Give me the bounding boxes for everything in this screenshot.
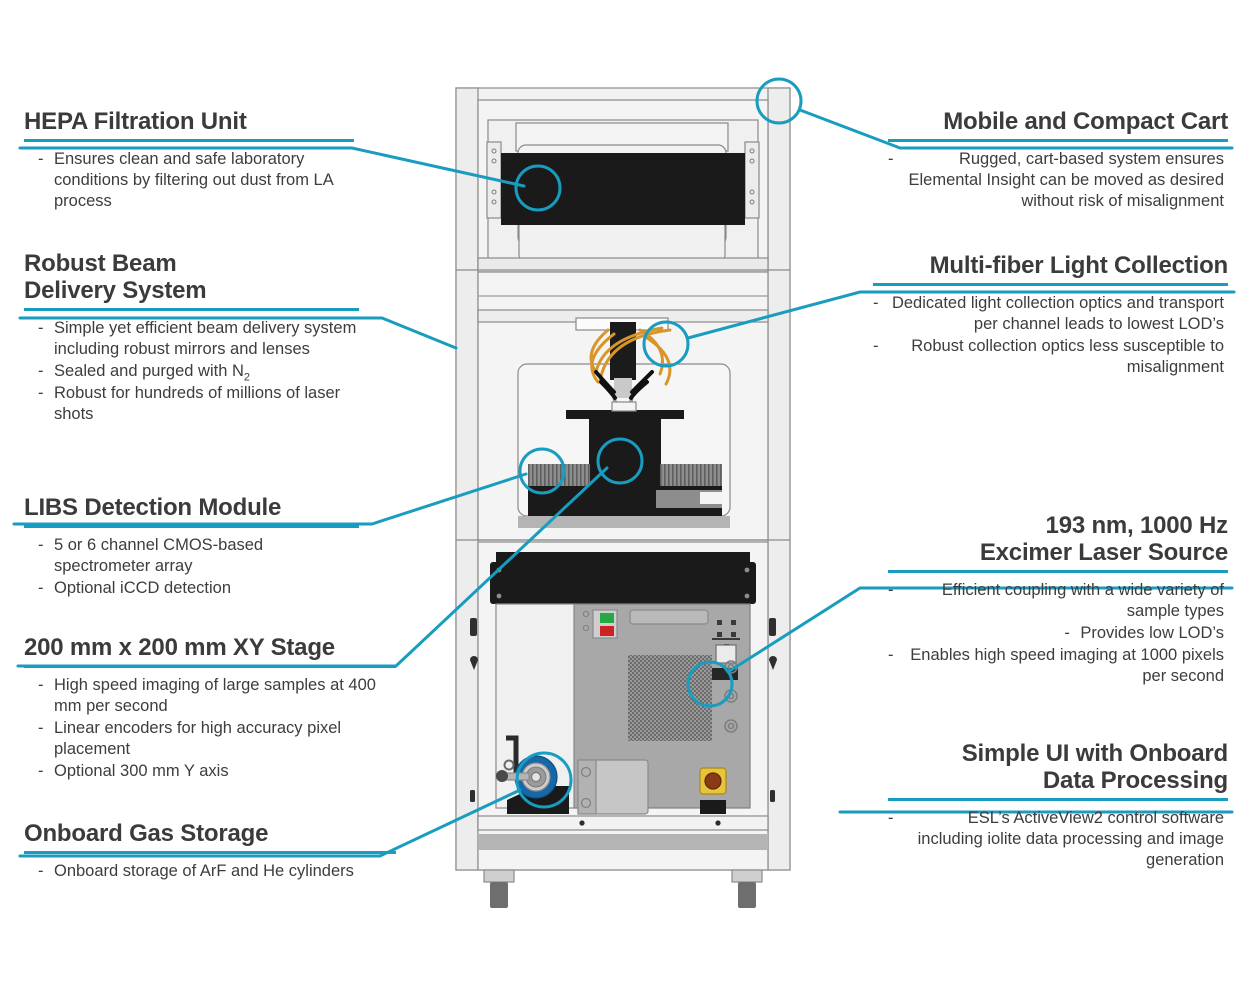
bullet-item: - ESL’s ActiveView2 control software inc… xyxy=(888,808,1228,871)
bullet-item: - Linear encoders for high accuracy pixe… xyxy=(24,718,396,760)
bullet-dash: - xyxy=(38,361,54,382)
mobile-cart-hotspot xyxy=(757,79,801,123)
bullet-dash: - xyxy=(38,675,54,717)
accent-rule xyxy=(24,665,396,668)
bullet-item: - Sealed and purged with N2 xyxy=(24,361,359,382)
bullet-dash: - xyxy=(38,535,54,577)
bullet-text: Onboard storage of ArF and He cylinders xyxy=(54,861,396,882)
bullet-text: Efficient coupling with a wide variety o… xyxy=(904,580,1224,622)
bullet-item: - Optional 300 mm Y axis xyxy=(24,761,396,782)
bullet-text: Enables high speed imaging at 1000 pixel… xyxy=(904,645,1224,687)
bullet-item: - Rugged, cart-based system ensures Elem… xyxy=(888,149,1228,212)
bullet-text: Sealed and purged with N2 xyxy=(54,361,359,382)
bullet-item: - Provides low LOD’s xyxy=(888,623,1228,644)
callout-title: Simple UI with Onboard Data Processing xyxy=(888,740,1228,794)
callout-multi-fiber-light-collection: Multi-fiber Light Collection - Dedicated… xyxy=(873,252,1228,379)
gas-regulator xyxy=(496,756,557,798)
bullet-item: - Optional iCCD detection xyxy=(24,578,359,599)
xy-stage-hotspot xyxy=(598,439,642,483)
callout-mobile-and-compact-cart: Mobile and Compact Cart - Rugged, cart-b… xyxy=(888,108,1228,213)
hepa-filter-hotspot xyxy=(516,166,560,210)
bullet-dash: - xyxy=(888,808,904,871)
bullet-text: Provides low LOD’s xyxy=(1080,623,1224,644)
bullet-item: - 5 or 6 channel CMOS-based spectrometer… xyxy=(24,535,359,577)
callout-bullets: - 5 or 6 channel CMOS-based spectrometer… xyxy=(24,535,359,599)
bullet-item: - Simple yet efficient beam delivery sys… xyxy=(24,318,359,360)
bullet-dash: - xyxy=(38,149,54,212)
bullet-dash: - xyxy=(888,149,904,212)
callout-title: HEPA Filtration Unit xyxy=(24,108,354,135)
callout-bullets: - Efficient coupling with a wide variety… xyxy=(888,580,1228,687)
accent-rule xyxy=(873,283,1228,286)
callout-onboard-gas-storage: Onboard Gas Storage - Onboard storage of… xyxy=(24,820,396,883)
bullet-text: Robust collection optics less susceptibl… xyxy=(889,336,1224,378)
bullet-item: - Robust collection optics less suscepti… xyxy=(873,336,1228,378)
laser-source-hotspot xyxy=(688,662,732,706)
bullet-dash: - xyxy=(873,293,889,335)
bullet-dash: - xyxy=(1064,623,1080,644)
bullet-text: Rugged, cart-based system ensures Elemen… xyxy=(904,149,1224,212)
callout-bullets: - Dedicated light collection optics and … xyxy=(873,293,1228,378)
callout-title: Multi-fiber Light Collection xyxy=(873,252,1228,279)
callout-bullets: - ESL’s ActiveView2 control software inc… xyxy=(888,808,1228,871)
callout-title: Robust Beam Delivery System xyxy=(24,250,359,304)
bullet-text: High speed imaging of large samples at 4… xyxy=(54,675,396,717)
callout-title: 200 mm x 200 mm XY Stage xyxy=(24,634,396,661)
callout-hepa-filtration-unit: HEPA Filtration Unit - Ensures clean and… xyxy=(24,108,354,213)
accent-rule xyxy=(888,139,1228,142)
bullet-text: 5 or 6 channel CMOS-based spectrometer a… xyxy=(54,535,359,577)
callout-bullets: - Rugged, cart-based system ensures Elem… xyxy=(888,149,1228,212)
callout-xy-stage: 200 mm x 200 mm XY Stage - High speed im… xyxy=(24,634,396,783)
callout-bullets: - Simple yet efficient beam delivery sys… xyxy=(24,318,359,425)
callout-title: LIBS Detection Module xyxy=(24,494,359,521)
subscript-2: 2 xyxy=(244,371,250,383)
accent-rule xyxy=(888,570,1228,573)
bullet-dash: - xyxy=(38,761,54,782)
callout-robust-beam-delivery-system: Robust Beam Delivery System - Simple yet… xyxy=(24,250,359,426)
bullet-text: ESL’s ActiveView2 control software inclu… xyxy=(904,808,1224,871)
callout-simple-ui-data-processing: Simple UI with Onboard Data Processing -… xyxy=(888,740,1228,872)
bullet-dash: - xyxy=(888,645,904,687)
bullet-text: Optional 300 mm Y axis xyxy=(54,761,396,782)
bullet-item: - Efficient coupling with a wide variety… xyxy=(888,580,1228,622)
infographic-canvas: HEPA Filtration Unit - Ensures clean and… xyxy=(0,0,1250,1000)
gas-storage-hotspot xyxy=(517,753,571,807)
bullet-dash: - xyxy=(38,318,54,360)
accent-rule xyxy=(24,139,354,142)
libs-detection-hotspot xyxy=(520,449,564,493)
bullet-text: Dedicated light collection optics and tr… xyxy=(889,293,1224,335)
bullet-dash: - xyxy=(38,718,54,760)
bullet-text: Optional iCCD detection xyxy=(54,578,359,599)
bullet-item: - Enables high speed imaging at 1000 pix… xyxy=(888,645,1228,687)
callout-bullets: - Ensures clean and safe laboratory cond… xyxy=(24,149,354,212)
light-collection-hotspot xyxy=(644,322,688,366)
bullet-item: - Dedicated light collection optics and … xyxy=(873,293,1228,335)
bullet-text: Simple yet efficient beam delivery syste… xyxy=(54,318,359,360)
bullet-dash: - xyxy=(38,578,54,599)
accent-rule xyxy=(24,525,359,528)
bullet-dash: - xyxy=(38,861,54,882)
accent-rule xyxy=(24,308,359,311)
bullet-dash: - xyxy=(873,336,889,378)
callout-title: 193 nm, 1000 Hz Excimer Laser Source xyxy=(888,512,1228,566)
bullet-text: Ensures clean and safe laboratory condit… xyxy=(54,149,354,212)
bullet-item: - Ensures clean and safe laboratory cond… xyxy=(24,149,354,212)
accent-rule xyxy=(24,851,396,854)
cart-body xyxy=(456,88,790,908)
bullet-dash: - xyxy=(38,383,54,425)
accent-rule xyxy=(888,798,1228,801)
callout-libs-detection-module: LIBS Detection Module - 5 or 6 channel C… xyxy=(24,494,359,600)
callout-title: Mobile and Compact Cart xyxy=(888,108,1228,135)
callout-title: Onboard Gas Storage xyxy=(24,820,396,847)
callout-bullets: - High speed imaging of large samples at… xyxy=(24,675,396,782)
bullet-item: - High speed imaging of large samples at… xyxy=(24,675,396,717)
bullet-text: Robust for hundreds of millions of laser… xyxy=(54,383,359,425)
callout-bullets: - Onboard storage of ArF and He cylinder… xyxy=(24,861,396,882)
callout-excimer-laser-source: 193 nm, 1000 Hz Excimer Laser Source - E… xyxy=(888,512,1228,688)
bullet-item: - Robust for hundreds of millions of las… xyxy=(24,383,359,425)
bullet-item: - Onboard storage of ArF and He cylinder… xyxy=(24,861,396,882)
bullet-dash: - xyxy=(888,580,904,622)
bullet-text: Linear encoders for high accuracy pixel … xyxy=(54,718,396,760)
